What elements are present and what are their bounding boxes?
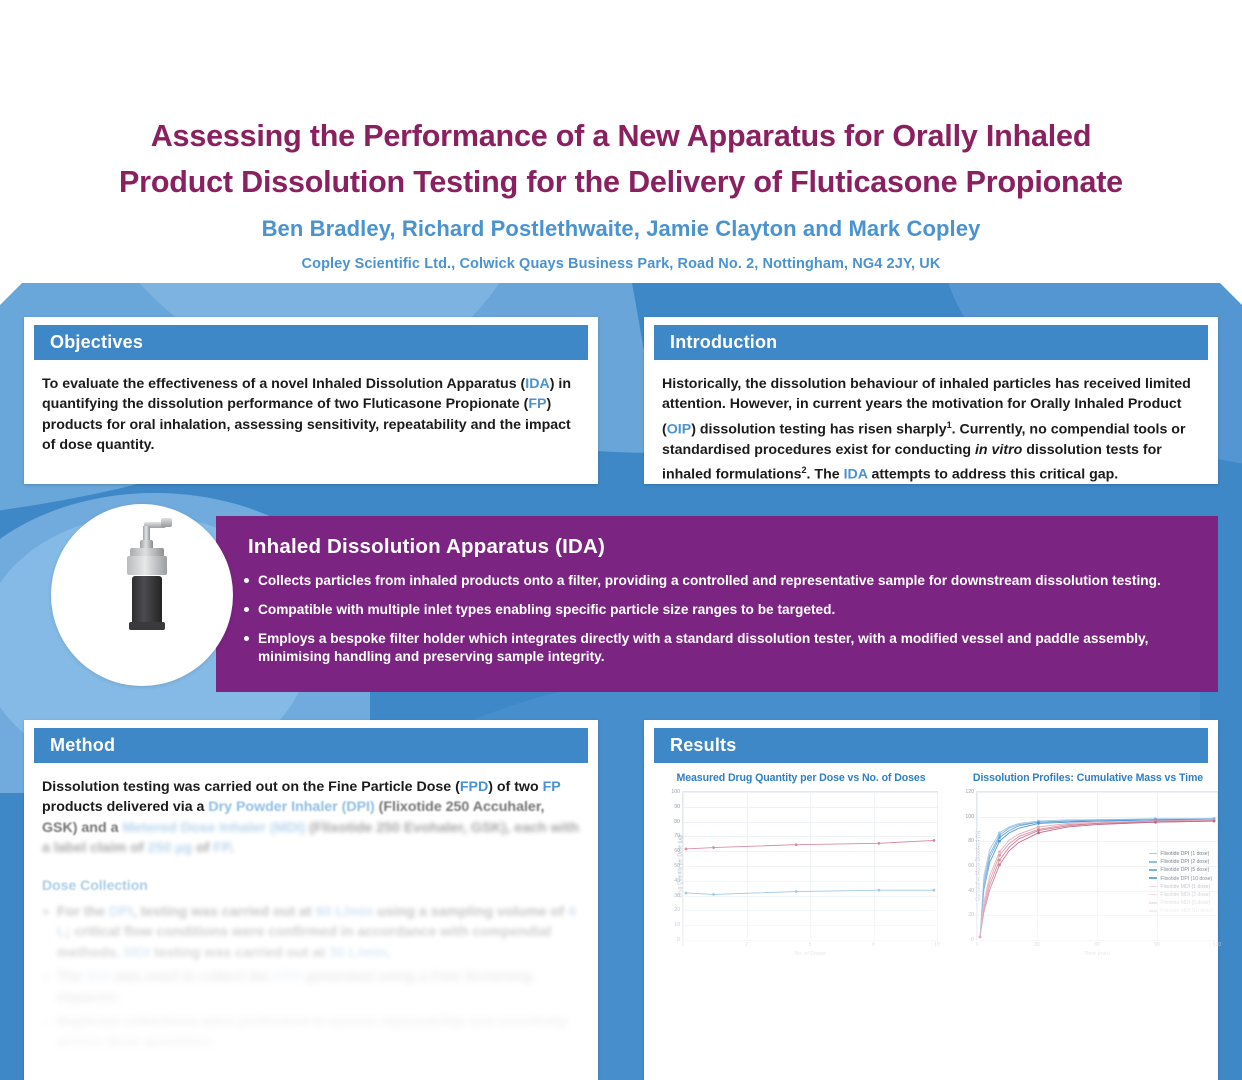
list-item: For the DPI, testing was carried out at … [42,902,580,963]
chart-line-flixotide-mdi-10-dose- [980,821,1214,937]
x-axis-tick-label: 10 [934,942,940,948]
list-item: Collects particles from inhaled products… [242,572,1202,590]
ida-bullet-list: Collects particles from inhaled products… [242,572,1202,677]
page-title: Assessing the Performance of a New Appar… [0,113,1242,205]
y-axis-tick-label: 0 [661,937,680,943]
method-b1-e: testing was carried out at [150,945,329,961]
chart-series-layer [977,792,1217,940]
gridline-vertical [1217,792,1218,940]
list-item: The IDA was used to collect the FPD gene… [42,967,580,1008]
y-axis-tick-label: 40 [955,888,974,894]
ida-bullet-1: Collects particles from inhaled products… [258,573,1161,588]
apparatus-filter-holder [127,556,167,575]
objectives-heading: Objectives [34,325,588,360]
affiliation: Copley Scientific Ltd., Colwick Quays Bu… [0,256,1242,272]
method-b2-a: The [57,969,86,985]
abbr-ida-bullet: IDA [86,969,110,985]
author-list: Ben Bradley, Richard Postlethwaite, Jami… [0,216,1242,242]
apparatus-inlet-tip [161,518,172,527]
plot-area-left: Drug Quantity per Dose (µg) No. of Doses… [682,791,938,941]
chart-data-point [998,863,1001,866]
method-p1-b: ) of two [488,779,542,795]
introduction-body: Historically, the dissolution behaviour … [644,360,1218,496]
abbr-dpi-bullet: DPI [109,904,133,920]
chart-data-point [685,848,688,851]
y-axis-tick-label: 60 [955,863,974,869]
x-axis-tick-label: 1 [682,942,685,948]
gridline-horizontal [683,940,937,941]
chart-data-point [712,893,715,896]
x-axis-tick-label: 30 [1034,942,1040,948]
intro-italic-invitro: in vitro [975,442,1022,458]
ida-bullet-2: Compatible with multiple inlet types ena… [258,602,835,617]
abbr-mdi: Metered Dose Inhaler (MDI) [122,820,305,836]
abbr-ida: IDA [525,376,549,392]
y-axis-tick-label: 90 [661,804,680,810]
method-flow-rate-mdi: 30 L/min [329,945,387,961]
chart-data-point [1037,831,1040,834]
chart-line-flixotide-mdi-2-dose- [980,821,1214,937]
abbr-ida-intro: IDA [844,467,868,483]
y-axis-tick-label: 70 [661,833,680,839]
method-b1-c: using a sampling volume of [373,904,568,920]
chart-drug-quantity-per-dose: Measured Drug Quantity per Dose vs No. o… [660,772,942,1072]
x-axis-label-left: No. of Doses [683,951,937,957]
abbr-fpd-bullet: FPD [273,969,301,985]
chart-data-point [933,839,936,842]
method-card: Method Dissolution testing was carried o… [24,720,598,1080]
chart-line-flixotide-dpi-5-dose- [980,820,1214,937]
chart-series-layer [683,792,937,940]
ida-bullet-3: Employs a bespoke filter holder which in… [258,631,1148,664]
method-dose-value: 250 µg [148,840,192,856]
bullet-dot-icon [244,578,249,583]
poster-body: Objectives To evaluate the effectiveness… [0,283,1242,1080]
title-line-1: Assessing the Performance of a New Appar… [151,119,1092,153]
x-axis-tick-label: 2 [745,942,748,948]
chart-data-point [998,859,1001,862]
y-axis-tick-label: 40 [661,878,680,884]
chart-data-point [712,846,715,849]
introduction-heading: Introduction [654,325,1208,360]
chart-data-point [998,840,1001,843]
chart-data-point [998,850,1001,853]
bullet-dot-icon [244,607,249,612]
chart-data-point [795,843,798,846]
method-subheading-dose-collection: Dose Collection [42,875,580,895]
results-card: Results Measured Drug Quantity per Dose … [644,720,1218,1080]
apparatus-body [132,576,162,624]
intro-text-f: attempts to address this critical gap. [868,467,1119,483]
method-p1-a: Dissolution testing was carried out on t… [42,779,460,795]
chart-data-point [685,892,688,895]
chart-data-point [877,889,880,892]
method-body: Dissolution testing was carried out on t… [24,763,598,1067]
method-p1-g: . [230,840,234,856]
method-b3: Replicate collections were performed to … [57,1014,567,1050]
y-axis-tick-label: 100 [955,814,974,820]
objectives-body: To evaluate the effectiveness of a novel… [24,360,598,466]
results-chart-row: Measured Drug Quantity per Dose vs No. o… [654,772,1212,1072]
x-axis-tick-label: 0 [976,942,979,948]
chart-data-point [933,889,936,892]
abbr-fp-method-2: FP [213,840,229,856]
x-axis-tick-label: 5 [809,942,812,948]
method-b1-f: . [387,945,391,961]
chart-data-point [1037,822,1040,825]
intro-text-e: . The [807,467,844,483]
apparatus-base [129,622,165,630]
y-axis-tick-label: 120 [955,789,974,795]
chart-title-left: Measured Drug Quantity per Dose vs No. o… [660,772,942,786]
list-item: Compatible with multiple inlet types ena… [242,601,1202,619]
gridline-horizontal [977,940,1217,941]
title-line-2: Product Dissolution Testing for the Deli… [18,159,1224,205]
method-p1-f: of [192,840,213,856]
y-axis-tick-label: 20 [661,907,680,913]
x-axis-tick-label: 8 [872,942,875,948]
chart-data-point [979,936,982,939]
method-heading: Method [34,728,588,763]
ida-banner-title: Inhaled Dissolution Apparatus (IDA) [248,535,605,559]
plot-area-right: Cumulative Mass Dissolved (%) Time (min)… [976,791,1218,941]
chart-line-flixotide-dpi-10-dose- [980,820,1214,937]
bullet-dot-icon [244,636,249,641]
chart-data-point [998,836,1001,839]
y-axis-tick-label: 80 [955,838,974,844]
chart-line-flixotide-mdi-5-dose- [980,821,1214,937]
y-axis-tick-label: 0 [955,937,974,943]
y-axis-tick-label: 60 [661,848,680,854]
y-axis-tick-label: 30 [661,893,680,899]
x-axis-tick-label: 120 [1213,942,1221,948]
chart-line-flixotide-dpi [686,840,934,849]
bullet-dot-icon [44,910,48,914]
chart-data-point [1213,820,1216,823]
method-b1-b: , testing was carried out at [133,904,316,920]
objectives-text-a: To evaluate the effectiveness of a novel… [42,376,525,392]
corner-notch-right [1220,283,1242,305]
intro-text-b: ) dissolution testing has risen sharply [691,422,946,438]
bullet-dot-icon [44,1020,48,1024]
chart-line-flixotide-mdi-1-dose- [980,820,1214,937]
abbr-fp-method: FP [543,779,561,795]
y-axis-tick-label: 50 [661,863,680,869]
x-axis-tick-label: 60 [1094,942,1100,948]
objectives-card: Objectives To evaluate the effectiveness… [24,317,598,484]
abbr-fp: FP [528,396,546,412]
abbr-mdi-bullet: MDI [124,945,150,961]
gridline-vertical [937,792,938,940]
y-axis-tick-label: 10 [661,922,680,928]
chart-data-point [1154,821,1157,824]
y-axis-tick-label: 20 [955,912,974,918]
x-axis-tick-label: 90 [1154,942,1160,948]
method-paragraph-1: Dissolution testing was carried out on t… [42,777,580,859]
list-item: Replicate collections were performed to … [42,1012,580,1053]
abbr-fpd: FPD [460,779,488,795]
y-axis-tick-label: 80 [661,819,680,825]
method-b1-a: For the [57,904,109,920]
y-axis-tick-label: 100 [661,789,680,795]
chart-data-point [998,854,1001,857]
chart-line-flixotide-mdi [686,890,934,894]
ida-banner: Inhaled Dissolution Apparatus (IDA) Coll… [216,516,1218,692]
apparatus-photo [51,504,233,686]
abbr-dpi: Dry Powder Inhaler (DPI) [208,799,374,815]
method-p1-c: products delivered via a [42,799,208,815]
chart-title-right: Dissolution Profiles: Cumulative Mass vs… [954,772,1222,786]
abbr-oip: OIP [667,422,691,438]
corner-notch-left [0,283,22,305]
poster-header: Assessing the Performance of a New Appar… [0,0,1242,283]
results-heading: Results [654,728,1208,763]
chart-data-point [877,842,880,845]
bullet-dot-icon [44,975,48,979]
introduction-card: Introduction Historically, the dissoluti… [644,317,1218,484]
method-b2-b: was used to collect the [110,969,273,985]
chart-data-point [795,890,798,893]
chart-dissolution-profiles: Dissolution Profiles: Cumulative Mass vs… [954,772,1222,1072]
list-item: Employs a bespoke filter holder which in… [242,630,1202,666]
x-axis-label-right: Time (min) [977,951,1217,957]
method-flow-rate-dpi: 60 L/min [316,904,374,920]
